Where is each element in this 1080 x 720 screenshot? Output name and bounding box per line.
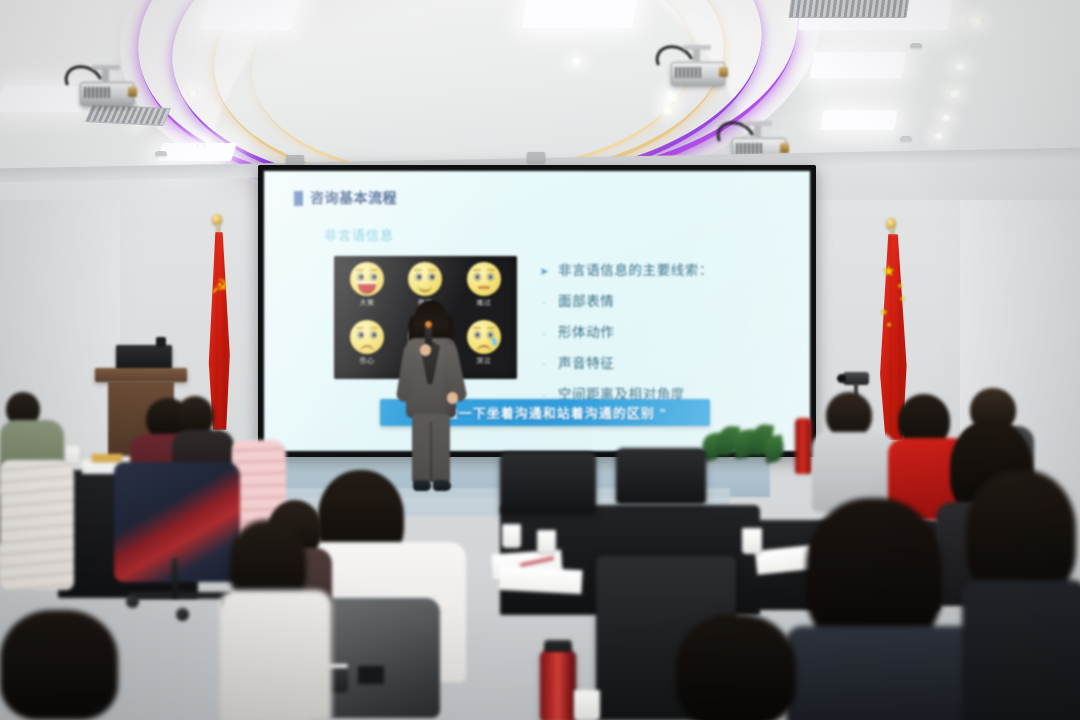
- sad-face-icon: [350, 320, 384, 354]
- air-vent-right: [788, 0, 909, 18]
- attendee-far-right-foreground: [962, 470, 1080, 720]
- bullet-text: 面部表情: [558, 290, 614, 310]
- downlight-9: [948, 90, 961, 97]
- bullet-text: 声音特征: [558, 352, 614, 372]
- bullet-text: 形体动作: [558, 321, 614, 341]
- chair-post: [172, 558, 178, 598]
- slide-bullet-list: ➤ 非言语信息的主要线索： · 面部表情 · 形体动作 · 声音特征 · 空: [539, 259, 789, 414]
- ceiling-projector-left: [80, 82, 134, 106]
- camera-lens-icon: [837, 374, 846, 383]
- downlight-4: [196, 143, 206, 150]
- unhappy-face-icon: [467, 262, 501, 296]
- downlight-6: [661, 106, 674, 115]
- dot-bullet-icon: ·: [539, 297, 549, 309]
- air-vent-left: [85, 104, 171, 126]
- document-sheet: [92, 454, 122, 462]
- downlight-5: [663, 91, 679, 103]
- flag-star-small-icon: ★: [897, 283, 903, 290]
- flag-star-small-icon: ★: [899, 296, 905, 303]
- downlight-10: [940, 115, 952, 121]
- dot-bullet-icon: ·: [539, 359, 549, 371]
- emoji-cell-laughing: 大笑: [338, 262, 396, 320]
- projector-lens: [780, 143, 789, 153]
- attendee-head: [966, 470, 1076, 598]
- laughing-face-icon: [350, 262, 384, 296]
- office-chair-center: [500, 452, 596, 514]
- bullet-text: 非言语信息的主要线索：: [558, 259, 713, 279]
- arrow-bullet-icon: ➤: [539, 265, 549, 278]
- chair-base: [128, 592, 234, 599]
- screen-mount-right: [527, 152, 545, 163]
- bullet-item: · 面部表情: [539, 290, 789, 310]
- emoji-label: 哭泣: [476, 356, 491, 366]
- projector-lens: [128, 87, 137, 97]
- ceiling-panel-light-2: [522, 0, 638, 28]
- document-sheet: [497, 566, 582, 594]
- bullet-item: · 声音特征: [539, 352, 789, 372]
- dot-bullet-icon: ·: [539, 328, 549, 340]
- projector-mount: [102, 69, 109, 83]
- projector-vents: [84, 87, 110, 98]
- flag-star-large-icon: ★: [882, 264, 895, 279]
- potted-plant: [700, 420, 786, 472]
- slide-title: 咨询基本流程: [310, 188, 397, 208]
- projector-mount: [693, 49, 700, 63]
- paper-cup: [742, 528, 762, 554]
- flag-star-small-icon: ★: [886, 322, 892, 329]
- paper-cup: [502, 524, 521, 548]
- projection-screen-frame: 咨询基本流程 非言语信息 大笑: [258, 165, 816, 457]
- emoji-label: 伤心: [360, 356, 375, 366]
- smiling-face-icon: [408, 262, 442, 296]
- attendee-bottom-left-foreground: [0, 600, 150, 720]
- ceiling-panel-light-1: [199, 0, 302, 30]
- projector-lens: [719, 67, 728, 77]
- attendee-top: [220, 590, 332, 720]
- white-puffer-jacket-on-chair: [0, 460, 74, 590]
- attendee-head: [676, 614, 796, 720]
- tripod-camera: [843, 372, 869, 385]
- attendee-head: [0, 610, 118, 720]
- smoke-detector-3: [155, 151, 167, 156]
- downlight-11: [933, 133, 944, 139]
- projection-screen: 咨询基本流程 非言语信息 大笑: [264, 171, 810, 451]
- paper-cup: [574, 690, 600, 720]
- handheld-microphone-icon: [425, 326, 432, 346]
- downlight-1: [187, 89, 198, 97]
- red-thermos: [540, 650, 576, 720]
- emoji-label: 难过: [476, 298, 491, 308]
- bullet-item: ➤ 非言语信息的主要线索：: [539, 259, 789, 279]
- projector-vents: [736, 143, 762, 154]
- attendee-left-midground: [220, 520, 340, 720]
- lectern-top: [95, 368, 187, 382]
- ceiling-projector-center: [671, 62, 725, 86]
- presenter-hand-left: [420, 344, 431, 356]
- slide-title-row: 咨询基本流程: [294, 188, 397, 208]
- title-marker-icon: [294, 191, 303, 206]
- hammer-sickle-emblem-icon: ☭: [211, 278, 228, 297]
- downlight-3: [570, 57, 583, 66]
- jacket-logo-patch: [358, 666, 384, 684]
- emoji-cell-sad: 伤心: [338, 320, 396, 378]
- projector-mount: [754, 125, 761, 139]
- downlight-8: [953, 63, 967, 70]
- projector-vents: [675, 67, 701, 78]
- smoke-detector-1: [910, 43, 922, 48]
- presenter-hand-right: [447, 392, 458, 404]
- office-chair-center-2: [616, 448, 706, 504]
- slide-subtitle: 非言语信息: [324, 225, 394, 244]
- flag-star-small-icon: ★: [880, 308, 888, 317]
- smoke-detector-2: [900, 136, 912, 141]
- ceiling-panel-light-5: [810, 52, 907, 78]
- presentation-room-photo: 咨询基本流程 非言语信息 大笑: [0, 0, 1080, 720]
- ceiling-panel-light-6: [820, 110, 898, 130]
- thermos-cap: [544, 640, 572, 652]
- emoji-label: 大笑: [360, 298, 375, 308]
- attendee-center-bottom: [660, 614, 820, 720]
- chair-caster: [176, 608, 189, 621]
- presenter: [398, 300, 464, 495]
- bullet-item: · 形体动作: [539, 321, 789, 341]
- attendee-top: [962, 580, 1080, 720]
- downlight-7: [966, 16, 984, 26]
- crying-face-icon: [467, 320, 501, 354]
- paper-cup: [537, 530, 556, 554]
